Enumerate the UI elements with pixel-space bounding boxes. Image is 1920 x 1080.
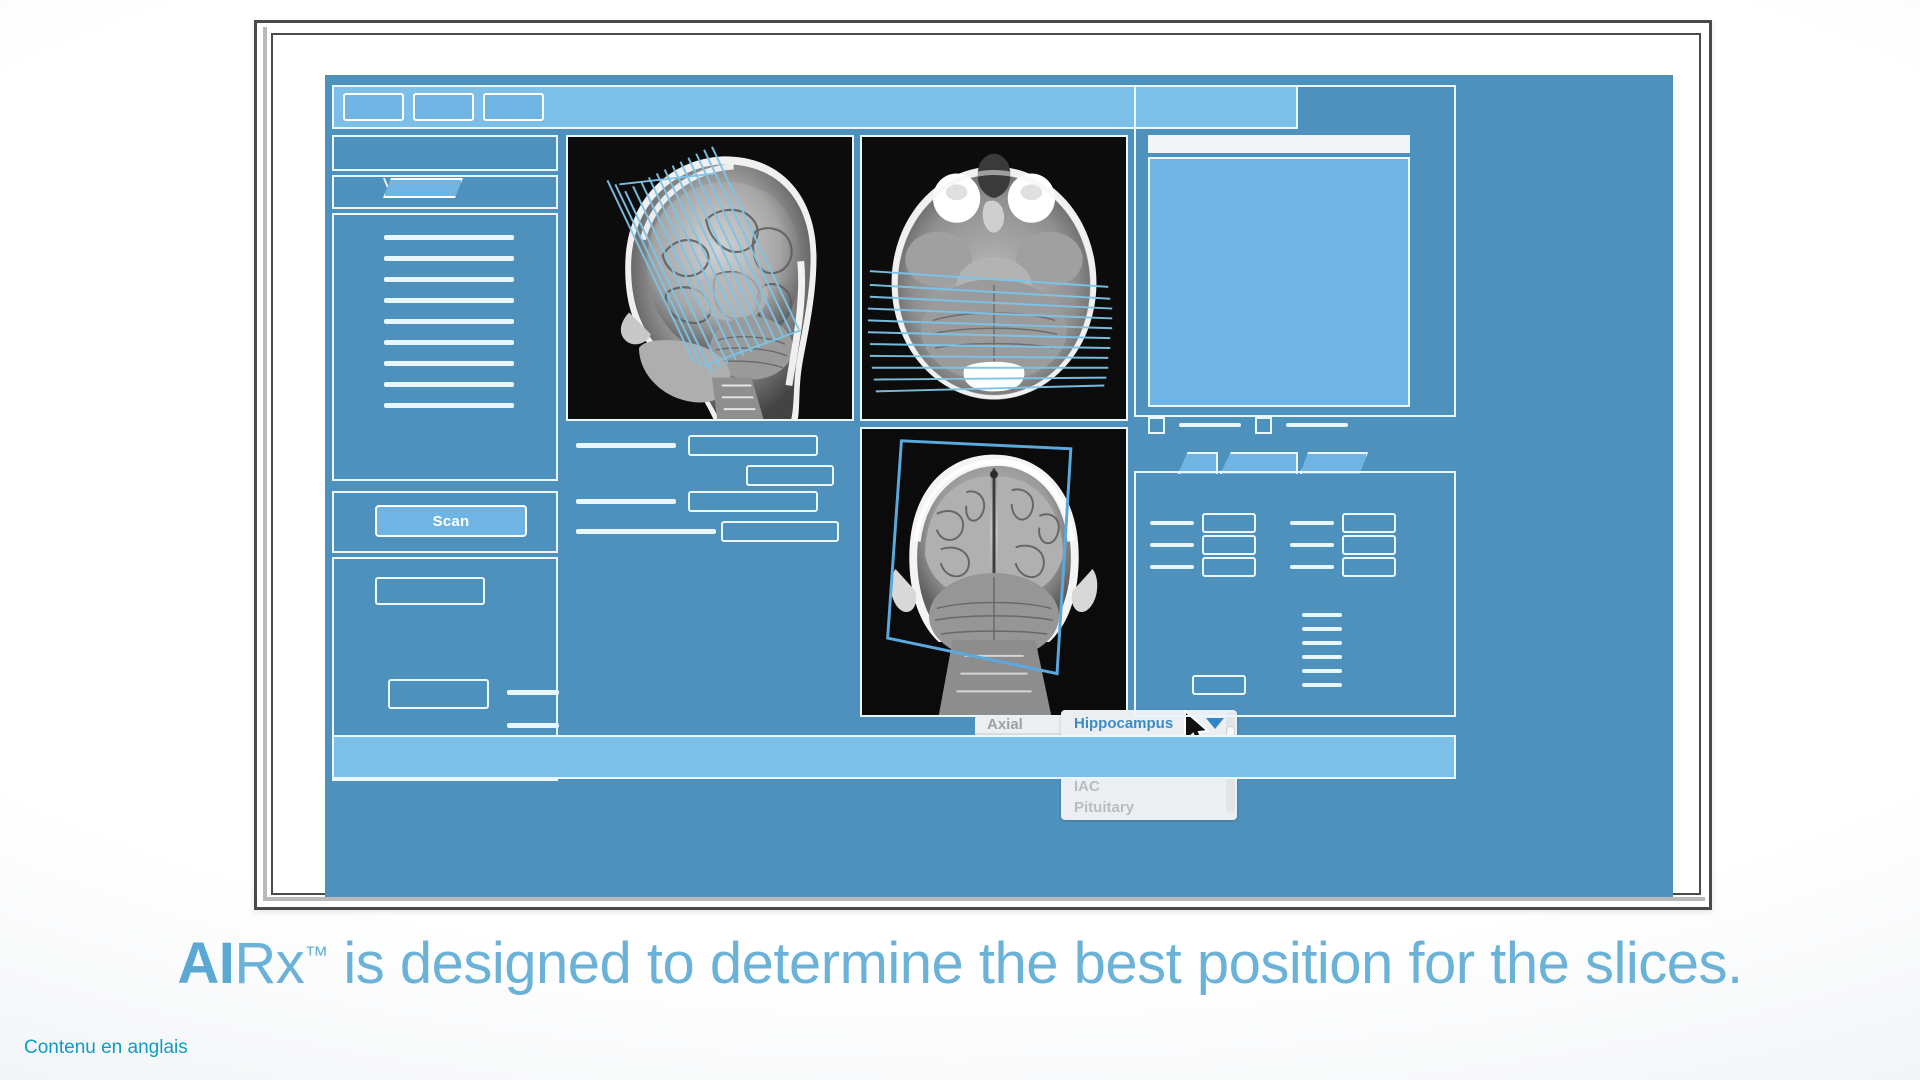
info-line-1 [1302,613,1342,617]
dropdown-item-pituitary[interactable]: Pituitary [1061,797,1237,818]
right-bottom-button[interactable] [1192,675,1246,695]
list-item [384,235,514,240]
caption-rest: is designed to determine the best positi… [328,931,1743,996]
right-bottom-panel [1134,471,1456,717]
dropdown-item-iac[interactable]: IAC [1061,776,1237,797]
param-field-1[interactable] [1202,513,1256,533]
left-lower-line-1 [507,690,559,695]
scan-button[interactable]: Scan [375,505,527,537]
monitor-frame: Scan [254,20,1712,910]
param-field-3[interactable] [1202,557,1256,577]
right-panel-preview-canvas[interactable] [1148,157,1410,407]
left-lower-line-2 [507,723,559,728]
left-panel-tab-active[interactable] [383,178,463,198]
list-item [384,403,514,408]
middle-form-panel [566,427,854,717]
list-item [384,298,514,303]
form-label-3 [576,529,716,534]
list-item [384,319,514,324]
form-field-4[interactable] [721,521,839,542]
left-lower-box-1[interactable] [388,679,489,709]
sagittal-mri-image [568,137,852,419]
info-line-6 [1302,683,1342,687]
list-item [384,361,514,366]
axial-mri-image [862,137,1126,419]
brand-rx: Rx [234,931,304,996]
param-label-2 [1150,543,1194,547]
info-line-3 [1302,641,1342,645]
airx-application-screen: Scan [325,75,1673,897]
param-field-5[interactable] [1342,535,1396,555]
param-label-4 [1290,521,1334,525]
trademark-symbol: ™ [304,942,328,969]
left-panel-header [332,135,558,171]
param-field-2[interactable] [1202,535,1256,555]
checkbox-2-label [1286,423,1348,427]
right-top-panel [1134,85,1456,417]
info-line-2 [1302,627,1342,631]
monitor-bezel: Scan [271,33,1701,895]
param-label-3 [1150,565,1194,569]
right-panel-titlebar [1148,135,1410,153]
viewport-coronal[interactable] [860,427,1128,717]
param-label-6 [1290,565,1334,569]
toolbar-button-3[interactable] [483,93,544,121]
form-field-1[interactable] [688,435,818,456]
viewport-sagittal[interactable] [566,135,854,421]
form-label-2 [576,499,676,504]
form-field-2[interactable] [746,465,834,486]
param-field-6[interactable] [1342,557,1396,577]
form-label-1 [576,443,676,448]
toolbar-button-1[interactable] [343,93,404,121]
list-item [384,340,514,345]
status-bar [332,735,1456,779]
right-panel-controls [1148,417,1428,433]
list-item [384,256,514,261]
toolbar-button-2[interactable] [413,93,474,121]
info-line-4 [1302,655,1342,659]
viewport-axial[interactable] [860,135,1128,421]
slide-caption: AIRx™ is designed to determine the best … [0,930,1920,997]
checkbox-1-label [1179,423,1241,427]
list-item [384,277,514,282]
orientation-option-axial[interactable]: Axial [975,715,1035,734]
left-panel [332,135,558,481]
footnote: Contenu en anglais [24,1037,188,1059]
param-label-1 [1150,521,1194,525]
left-lower-field[interactable] [375,577,485,605]
checkbox-1[interactable] [1148,417,1165,434]
checkbox-2[interactable] [1255,417,1272,434]
list-item [384,382,514,387]
left-panel-line-list [384,235,514,424]
info-line-5 [1302,669,1342,673]
param-label-5 [1290,543,1334,547]
left-panel-tabstrip [332,175,558,209]
param-field-4[interactable] [1342,513,1396,533]
form-field-3[interactable] [688,491,818,512]
brand-ai: AI [177,931,234,996]
coronal-mri-image [862,429,1126,715]
